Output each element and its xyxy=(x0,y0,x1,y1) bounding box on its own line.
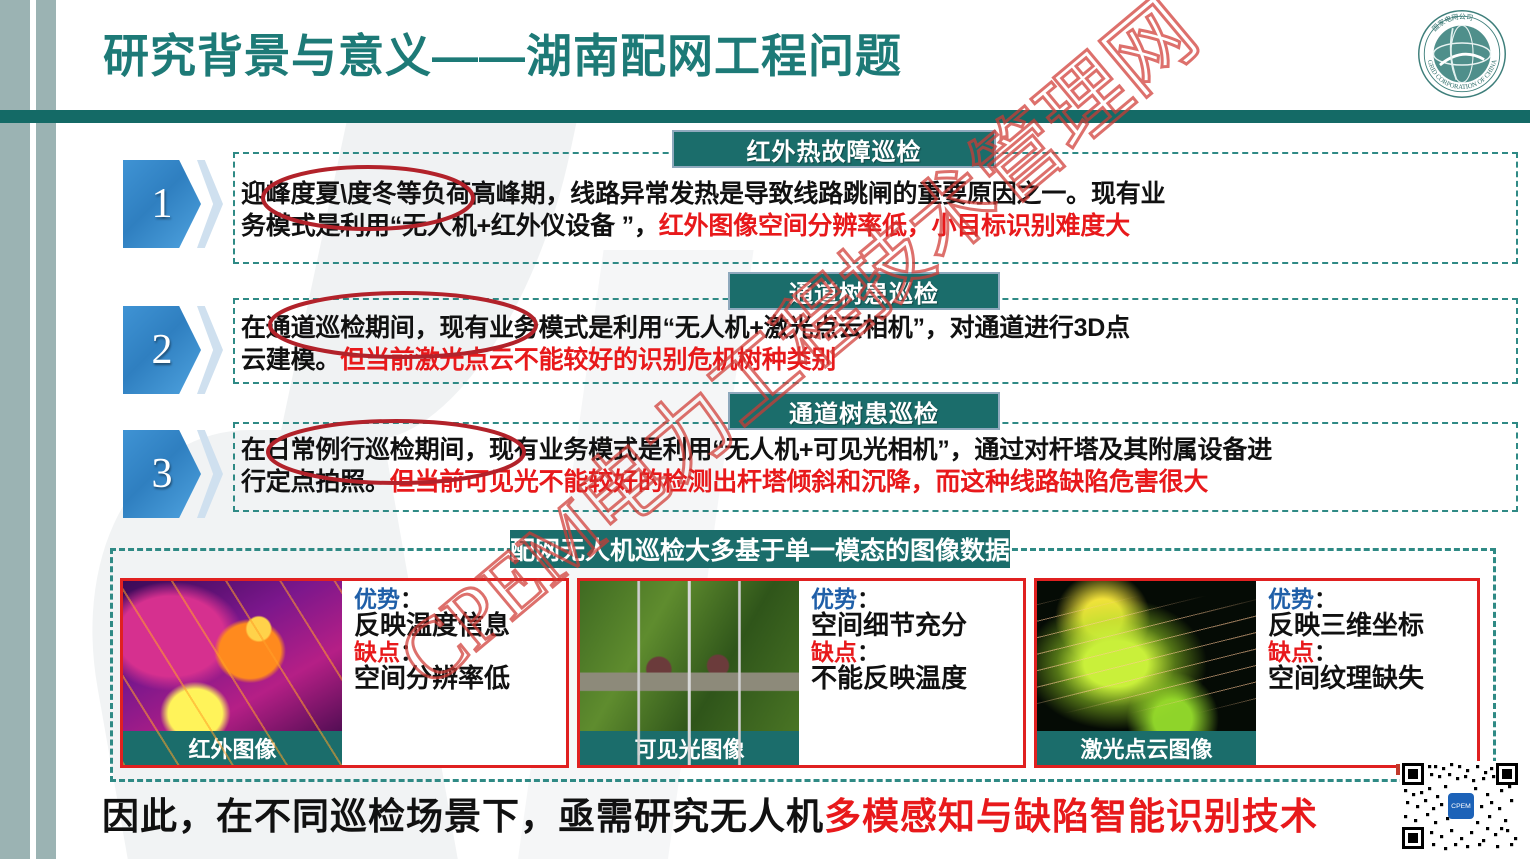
advantage-value: 反映温度信息 xyxy=(354,611,562,640)
slide-header: 研究背景与意义——湖南配网工程问题 GRID CORPORATION OF CH… xyxy=(56,0,1530,110)
qr-code[interactable]: CPEM xyxy=(1400,761,1522,853)
modality-card-caption: 红外图像 xyxy=(123,731,342,765)
issue-paragraph-1: 迎峰度夏\度冬等负荷高峰期，线路异常发热是导致线路跳闸的重要原因之一。现有业 务… xyxy=(241,178,1512,242)
drawback-label: 缺点 xyxy=(1268,639,1314,665)
modality-card-caption: 激光点云图像 xyxy=(1037,731,1256,765)
page-title: 研究背景与意义——湖南配网工程问题 xyxy=(103,20,902,86)
issue-1-line2: 务模式是利用“无人机+红外仪设备 ”， xyxy=(241,212,659,240)
issue-banner-1: 红外热故障巡检 xyxy=(672,130,996,168)
lidar-point-cloud-image: 激光点云图像 xyxy=(1037,581,1256,765)
advantage-label: 优势 xyxy=(811,586,857,612)
advantage-value: 空间细节充分 xyxy=(811,611,1019,640)
step-number-label: 3 xyxy=(123,430,201,518)
left-decor-strip-outer xyxy=(0,0,30,859)
issue-row-2: 2 在通道巡检期间，现有业务模式是利用“无人机+激光点云相机”，对通道进行3D点… xyxy=(123,298,1518,384)
advantage-label-row: 优势： xyxy=(1268,587,1473,611)
issue-3-highlight: 但当前可见光不能较好的检测出杆塔倾斜和沉降，而这种线路缺陷危害很大 xyxy=(390,468,1208,496)
issue-3-line1: 在日常例行巡检期间，现有业务模式是利用“无人机+可见光相机”，通过对杆塔及其附属… xyxy=(241,436,1272,464)
issue-banner-2: 通道树患巡检 xyxy=(728,272,1000,310)
advantage-colon: ： xyxy=(400,586,423,612)
drawback-colon: ： xyxy=(1314,639,1337,665)
conclusion-black: 因此，在不同巡检场景下，亟需研究无人机 xyxy=(102,796,824,837)
drawback-colon: ： xyxy=(857,639,880,665)
issue-row-1: 1 迎峰度夏\度冬等负荷高峰期，线路异常发热是导致线路跳闸的重要原因之一。现有业… xyxy=(123,152,1518,264)
advantage-label-row: 优势： xyxy=(354,587,562,611)
step-number-badge-2: 2 xyxy=(123,306,221,394)
issue-3-line2: 行定点拍照。 xyxy=(241,468,390,496)
slide-canvas: 研究背景与意义——湖南配网工程问题 GRID CORPORATION OF CH… xyxy=(0,0,1530,859)
modality-card-text: 优势： 空间细节充分 缺点： 不能反映温度 xyxy=(799,581,1023,765)
modality-card-list: 红外图像 优势： 反映温度信息 缺点： 空间分辨率低 可见光图像 优势： 空间细… xyxy=(120,578,1480,768)
drawback-value: 空间纹理缺失 xyxy=(1268,664,1473,693)
modality-card[interactable]: 可见光图像 优势： 空间细节充分 缺点： 不能反映温度 xyxy=(577,578,1026,768)
step-number-label: 2 xyxy=(123,306,201,394)
drawback-label-row: 缺点： xyxy=(354,640,562,664)
state-grid-logo-icon: GRID CORPORATION OF CHINA 国家电网公司 xyxy=(1416,8,1508,100)
modality-card[interactable]: 红外图像 优势： 反映温度信息 缺点： 空间分辨率低 xyxy=(120,578,569,768)
modality-card-text: 优势： 反映三维坐标 缺点： 空间纹理缺失 xyxy=(1256,581,1477,765)
step-number-badge-3: 3 xyxy=(123,430,221,518)
step-number-label: 1 xyxy=(123,160,201,248)
issue-2-highlight: 但当前激光点云不能较好的识别危机树种类别 xyxy=(340,346,836,374)
issue-1-line1: 迎峰度夏\度冬等负荷高峰期，线路异常发热是导致线路跳闸的重要原因之一。现有业 xyxy=(241,180,1165,208)
issue-1-highlight: 红外图像空间分辨率低，小目标识别难度大 xyxy=(659,212,1130,240)
advantage-value: 反映三维坐标 xyxy=(1268,611,1473,640)
advantage-colon: ： xyxy=(857,586,880,612)
step-number-badge-1: 1 xyxy=(123,160,221,248)
conclusion-highlight: 多模感知与缺陷智能识别技术 xyxy=(824,796,1318,837)
issue-paragraph-2: 在通道巡检期间，现有业务模式是利用“无人机+激光点云相机”，对通道进行3D点 云… xyxy=(241,312,1512,376)
drawback-label-row: 缺点： xyxy=(1268,640,1473,664)
modality-card[interactable]: 激光点云图像 优势： 反映三维坐标 缺点： 空间纹理缺失 xyxy=(1034,578,1480,768)
drawback-label: 缺点 xyxy=(354,639,400,665)
modality-card-caption: 可见光图像 xyxy=(580,731,799,765)
issue-2-line1: 在通道巡检期间，现有业务模式是利用“无人机+激光点云相机”，对通道进行3D点 xyxy=(241,314,1130,342)
drawback-label-row: 缺点： xyxy=(811,640,1019,664)
conclusion-text: 因此，在不同巡检场景下，亟需研究无人机多模感知与缺陷智能识别技术 xyxy=(0,786,1420,840)
modality-group-banner: 配网无人机巡检大多基于单一模态的图像数据 xyxy=(510,530,1010,568)
advantage-label: 优势 xyxy=(1268,586,1314,612)
qr-center-label: CPEM xyxy=(1451,803,1471,810)
modality-card-text: 优势： 反映温度信息 缺点： 空间分辨率低 xyxy=(342,581,566,765)
header-divider xyxy=(0,110,1530,123)
issue-2-line2: 云建模。 xyxy=(241,346,340,374)
issue-paragraph-3: 在日常例行巡检期间，现有业务模式是利用“无人机+可见光相机”，通过对杆塔及其附属… xyxy=(241,434,1512,498)
drawback-value: 空间分辨率低 xyxy=(354,664,562,693)
advantage-colon: ： xyxy=(1314,586,1337,612)
issue-banner-3: 通道树患巡检 xyxy=(728,392,1000,430)
infrared-thermal-image: 红外图像 xyxy=(123,581,342,765)
left-decor-strip-inner xyxy=(36,0,56,859)
drawback-colon: ： xyxy=(400,639,423,665)
issue-row-3: 3 在日常例行巡检期间，现有业务模式是利用“无人机+可见光相机”，通过对杆塔及其… xyxy=(123,422,1518,512)
drawback-label: 缺点 xyxy=(811,639,857,665)
visible-light-image: 可见光图像 xyxy=(580,581,799,765)
advantage-label-row: 优势： xyxy=(811,587,1019,611)
advantage-label: 优势 xyxy=(354,586,400,612)
drawback-value: 不能反映温度 xyxy=(811,664,1019,693)
